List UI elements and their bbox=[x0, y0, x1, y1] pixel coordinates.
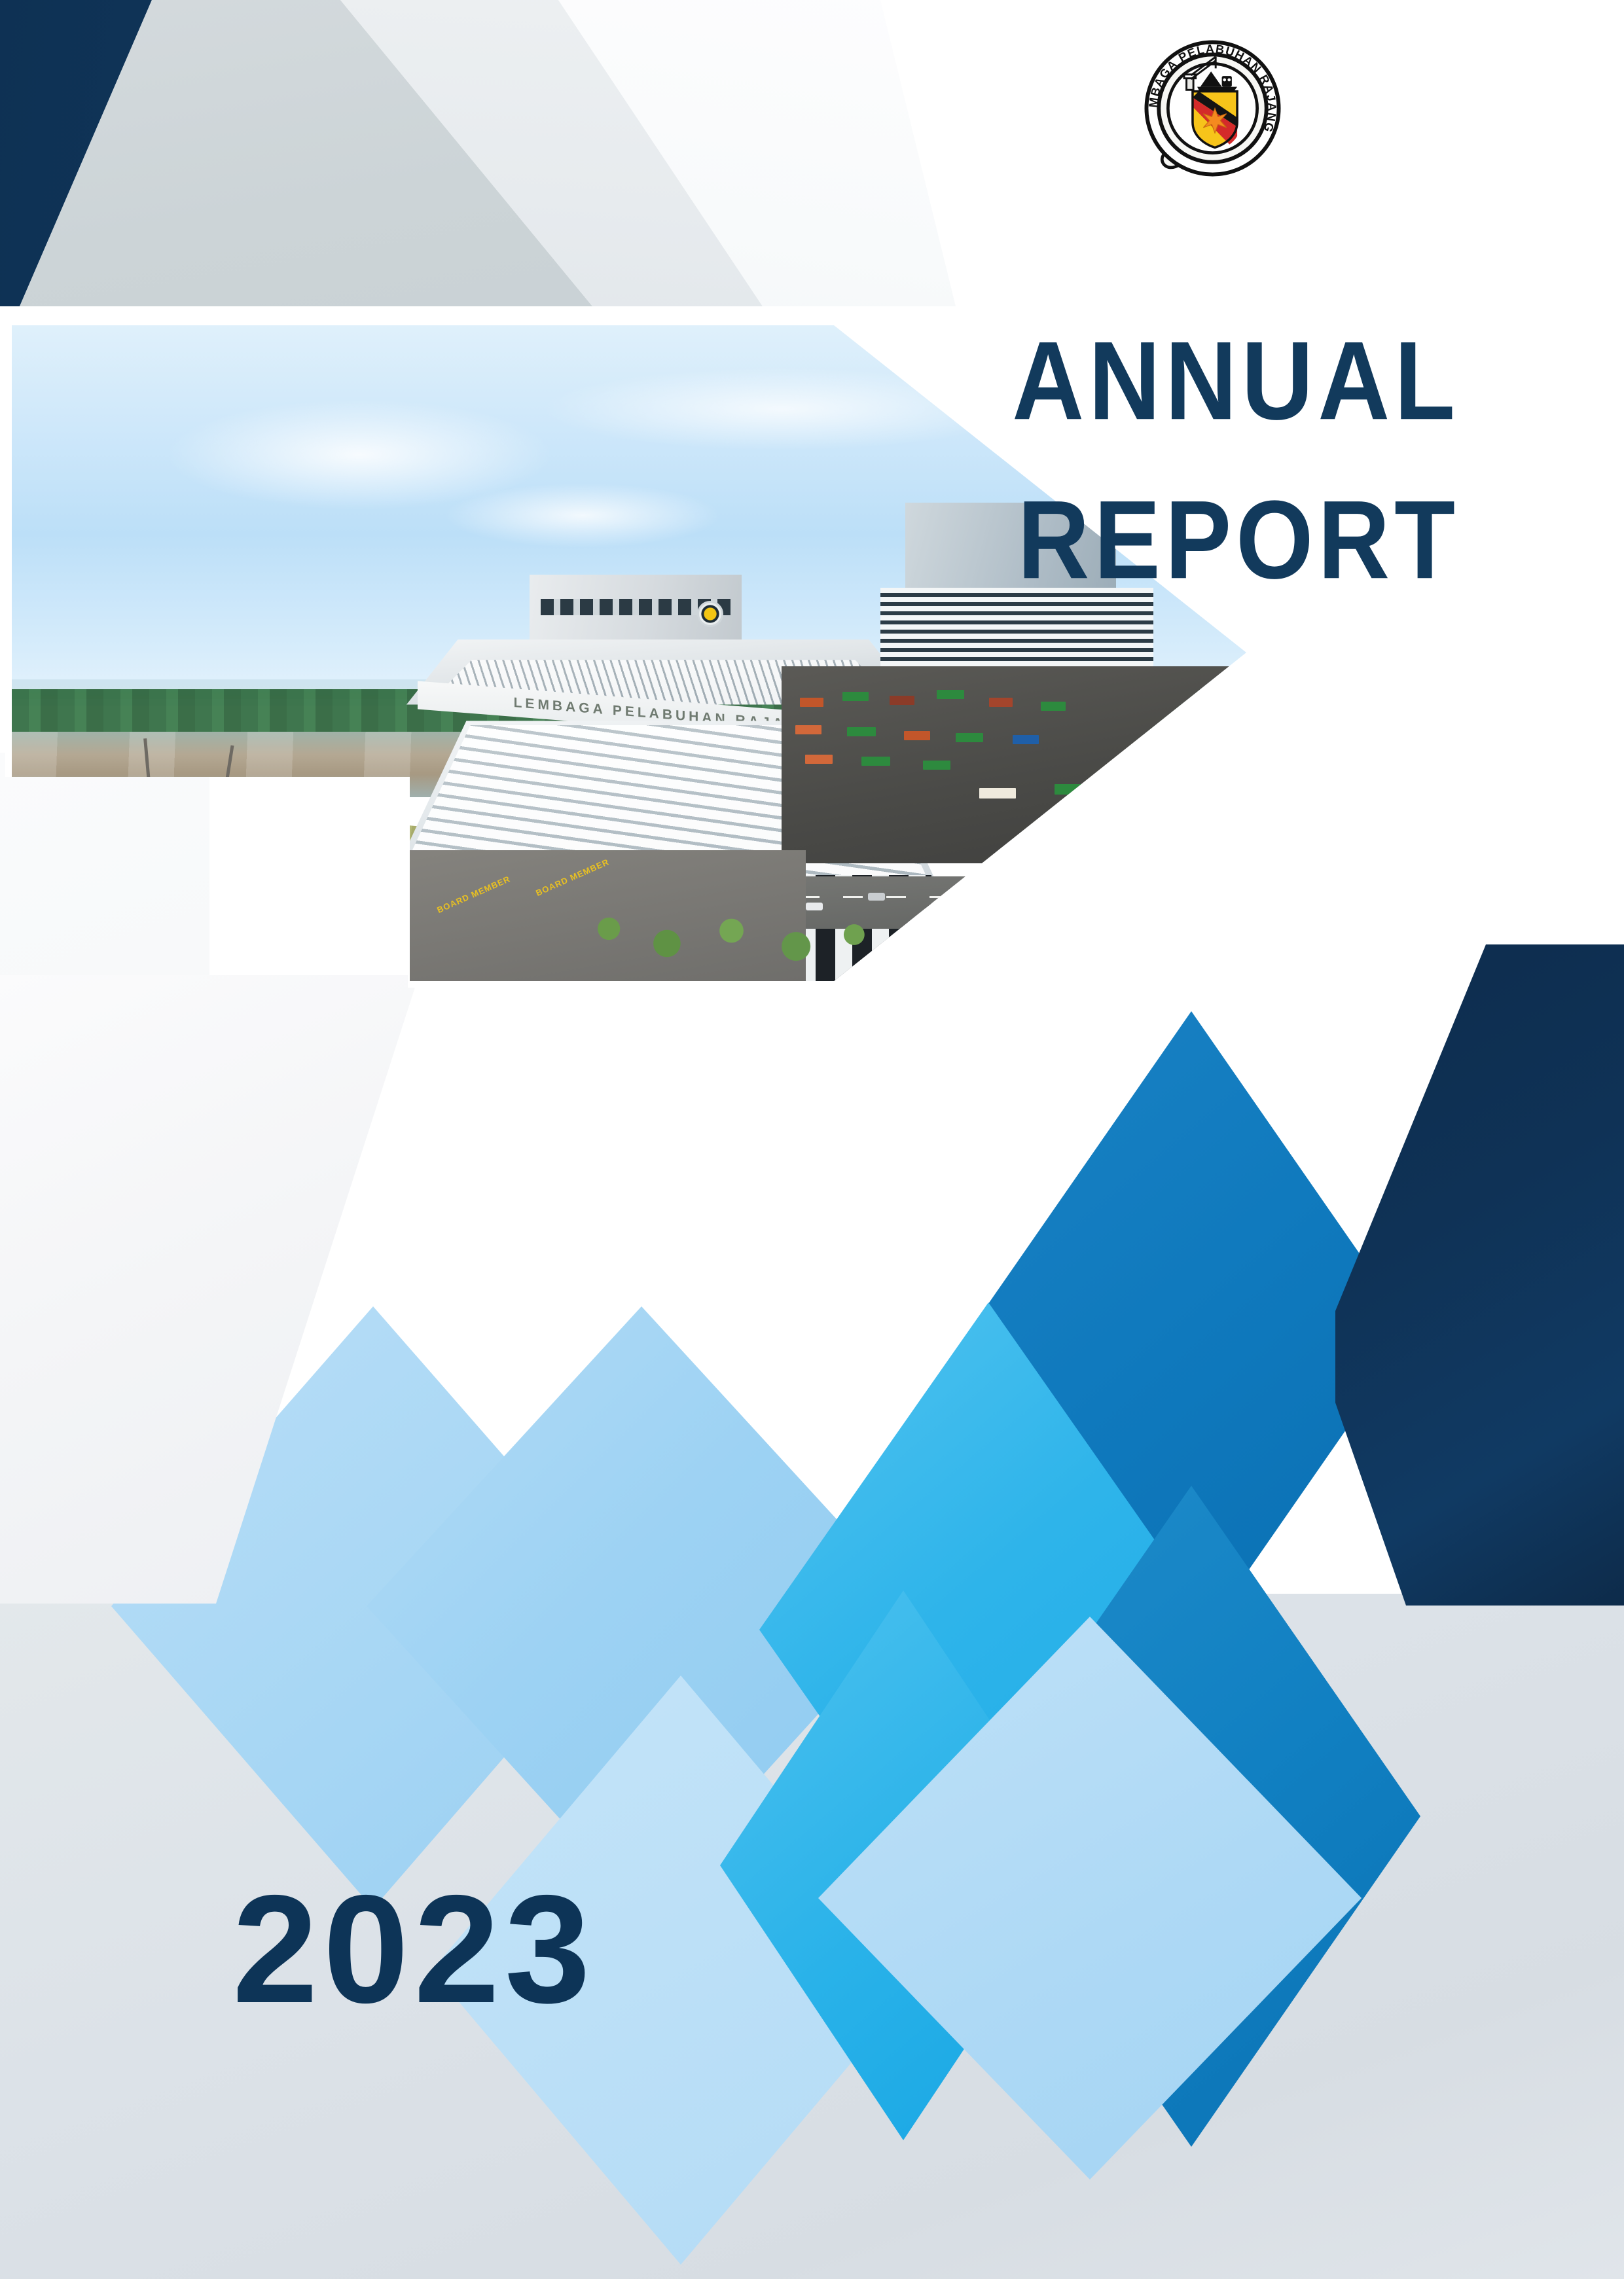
photo-container bbox=[1041, 702, 1066, 711]
photo-car bbox=[992, 899, 1009, 907]
photo-container bbox=[904, 731, 930, 740]
decorative-top-triangle-band bbox=[0, 0, 956, 306]
cover-title-block: ANNUAL REPORT bbox=[975, 308, 1460, 598]
decorative-navy-hexagon-block bbox=[1335, 944, 1624, 1606]
lembaga-pelabuhan-rajang-logo: LEMBAGA PELABUHAN RAJANG bbox=[1136, 31, 1290, 185]
photo-container bbox=[842, 692, 869, 701]
photo-container bbox=[795, 725, 821, 734]
photo-container bbox=[800, 698, 823, 707]
cover-year: 2023 bbox=[232, 1872, 596, 2026]
title-line-annual: ANNUAL bbox=[975, 308, 1460, 455]
title-line-report: REPORT bbox=[975, 467, 1460, 614]
photo-tree-canopy bbox=[570, 889, 893, 981]
photo-container bbox=[847, 727, 876, 736]
photo-container bbox=[937, 690, 964, 699]
photo-container bbox=[890, 696, 914, 705]
lpr-crest-icon: LEMBAGA PELABUHAN RAJANG bbox=[1136, 31, 1290, 185]
photo-container bbox=[979, 788, 1016, 799]
photo-container bbox=[989, 698, 1013, 707]
photo-container bbox=[805, 755, 833, 764]
photo-container bbox=[861, 757, 890, 766]
photo-container bbox=[1013, 735, 1039, 744]
photo-container bbox=[923, 761, 950, 770]
photo-sin-yang-container: SIN YANG bbox=[967, 935, 1066, 950]
photo-container bbox=[956, 733, 983, 742]
photo-building-crest-seal bbox=[697, 601, 723, 627]
photo-car bbox=[1055, 916, 1072, 924]
photo-container-yard bbox=[782, 666, 1253, 863]
annual-report-cover-page: LEMBAGA PELABUHAN RAJANG bbox=[0, 0, 1624, 2279]
